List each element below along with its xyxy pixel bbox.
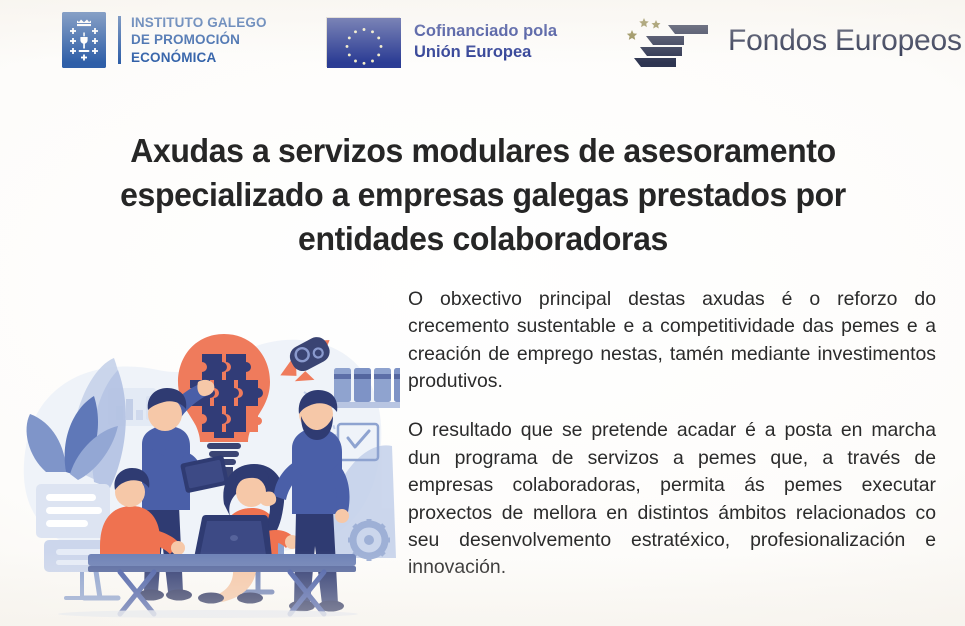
body-paragraph-2: O resultado que se pretende acadar é a p… <box>408 417 936 581</box>
fondos-europeos-stairs-stars-icon <box>620 8 716 74</box>
fondos-europeos-logo-text: Fondos Europeos <box>728 24 962 58</box>
logo-fondos-europeos: Fondos Europeos <box>620 8 962 74</box>
xunta-de-galicia-coat-of-arms-icon <box>62 12 106 68</box>
logo-european-union: Cofinanciado pola Unión Europea <box>326 17 557 67</box>
eu-logo-text: Cofinanciado pola Unión Europea <box>414 21 557 63</box>
logo-divider <box>118 16 121 64</box>
flyer-page: INSTITUTO GALEGO DE PROMOCIÓN ECONÓMICA <box>0 0 965 626</box>
body-paragraph-1: O obxectivo principal destas axudas é o … <box>408 286 936 395</box>
logo-igape: INSTITUTO GALEGO DE PROMOCIÓN ECONÓMICA <box>62 12 267 68</box>
page-title: Axudas a servizos modulares de asesorame… <box>58 130 908 261</box>
igape-logo-text: INSTITUTO GALEGO DE PROMOCIÓN ECONÓMICA <box>131 14 267 66</box>
european-union-flag-icon <box>326 17 400 67</box>
team-collaboration-illustration <box>8 296 400 618</box>
body-copy: O obxectivo principal destas axudas é o … <box>408 286 936 582</box>
logo-bar: INSTITUTO GALEGO DE PROMOCIÓN ECONÓMICA <box>0 0 965 92</box>
